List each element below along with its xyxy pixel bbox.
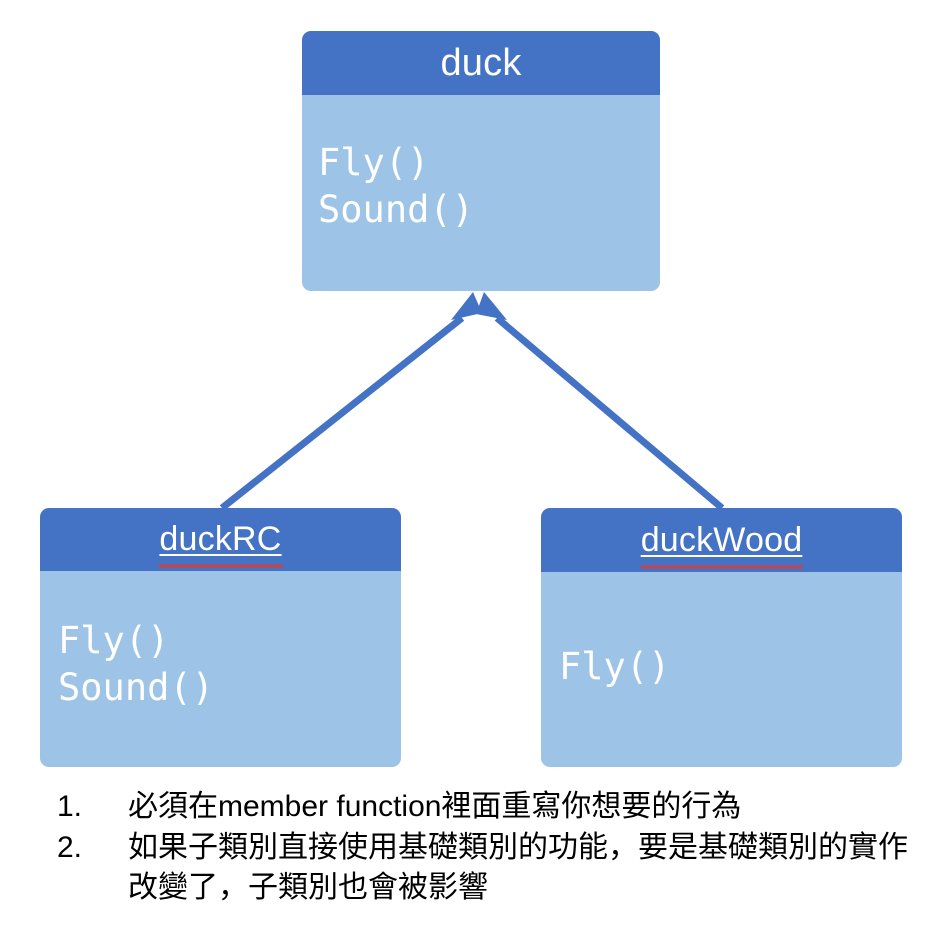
note-text: 如果子類別直接使用基礎類別的功能，要是基礎類別的實作改變了，子類別也會被影響 <box>128 828 930 908</box>
uml-class-duck-header: duck <box>302 31 660 95</box>
notes-list: 1. 必須在member function裡面重寫你想要的行為 2. 如果子類別… <box>50 787 930 909</box>
uml-class-duck-methods: Fly() Sound() <box>302 95 660 291</box>
uml-class-duckwood-header: duckWood <box>541 508 902 572</box>
note-marker: 2. <box>50 828 128 868</box>
uml-class-duck[interactable]: duck Fly() Sound() <box>302 31 660 291</box>
arrow-duckwood-to-duck <box>476 292 722 508</box>
uml-class-duck-name: duck <box>440 42 521 85</box>
arrow-duckrc-to-duck <box>222 292 482 508</box>
uml-class-duckrc-name: duckRC <box>159 520 281 559</box>
uml-class-duckrc[interactable]: duckRC Fly() Sound() <box>40 508 401 767</box>
note-marker: 1. <box>50 787 128 827</box>
note-item: 2. 如果子類別直接使用基礎類別的功能，要是基礎類別的實作改變了，子類別也會被影… <box>50 828 930 908</box>
uml-class-duckrc-methods: Fly() Sound() <box>40 571 401 767</box>
uml-class-duckwood-name: duckWood <box>641 521 803 560</box>
uml-class-duckwood[interactable]: duckWood Fly() <box>541 508 902 767</box>
diagram-canvas: duck Fly() Sound() duckRC Fly() Sound() … <box>0 0 939 940</box>
note-item: 1. 必須在member function裡面重寫你想要的行為 <box>50 787 930 827</box>
note-text: 必須在member function裡面重寫你想要的行為 <box>128 787 930 827</box>
uml-class-duckwood-methods: Fly() <box>541 572 902 767</box>
uml-class-duckrc-header: duckRC <box>40 508 401 571</box>
